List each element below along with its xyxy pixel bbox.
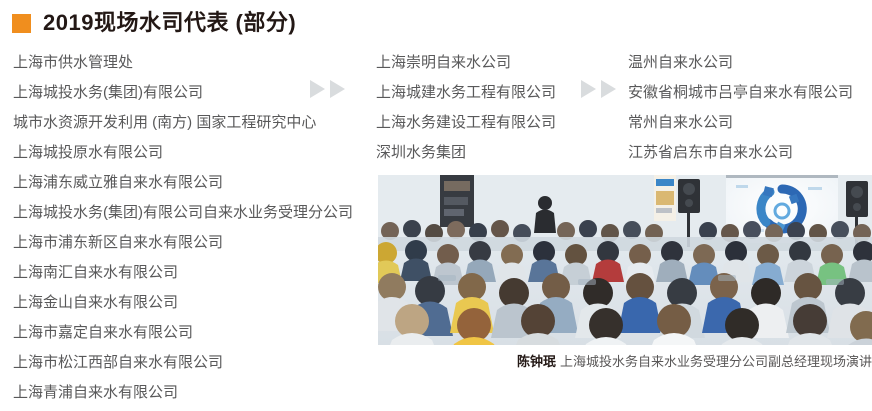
caption-speaker-name: 陈钟珉 [517,354,556,369]
list-item: 上海城建水务工程有限公司 [376,78,556,108]
list-item: 上海浦东威立雅自来水有限公司 [13,168,353,198]
triangle-right-icon [601,80,616,98]
list-item: 上海市浦东新区自来水有限公司 [13,228,353,258]
page-title: 2019现场水司代表 (部分) [43,12,296,34]
water-company-list-column-1: 上海市供水管理处 上海城投水务(集团)有限公司 城市水资源开发利用 (南方) 国… [13,48,353,408]
list-item: 温州自来水公司 [628,48,853,78]
photo-illustration [378,175,872,345]
column-separator-arrows-1 [310,80,345,98]
page-title-bar: 2019现场水司代表 (部分) [0,0,872,46]
list-item: 城市水资源开发利用 (南方) 国家工程研究中心 [13,108,353,138]
list-item: 上海市供水管理处 [13,48,353,78]
orange-square-bullet-icon [12,14,31,33]
list-item: 常州自来水公司 [628,108,853,138]
list-item: 上海城投原水有限公司 [13,138,353,168]
photo-caption: 陈钟珉上海城投水务自来水业务受理分公司副总经理现场演讲 [378,351,872,370]
list-item: 上海城投水务(集团)有限公司 [13,78,353,108]
list-item: 上海南汇自来水有限公司 [13,258,353,288]
list-item: 上海金山自来水有限公司 [13,288,353,318]
list-item: 上海崇明自来水公司 [376,48,556,78]
triangle-right-icon [310,80,325,98]
column-separator-arrows-2 [581,80,616,98]
list-item: 上海青浦自来水有限公司 [13,378,353,408]
triangle-right-icon [581,80,596,98]
list-item: 上海水务建设工程有限公司 [376,108,556,138]
triangle-right-icon [330,80,345,98]
caption-speaker-title: 上海城投水务自来水业务受理分公司副总经理现场演讲 [560,354,872,369]
water-company-list-column-3: 温州自来水公司 安徽省桐城市吕亭自来水有限公司 常州自来水公司 江苏省启东市自来… [628,48,853,168]
water-company-list-column-2: 上海崇明自来水公司 上海城建水务工程有限公司 上海水务建设工程有限公司 深圳水务… [376,48,556,168]
list-item: 安徽省桐城市吕亭自来水有限公司 [628,78,853,108]
conference-audience-photo [378,175,872,345]
list-item: 上海市松江西部自来水有限公司 [13,348,353,378]
list-item: 上海城投水务(集团)有限公司自来水业务受理分公司 [13,198,353,228]
list-item: 江苏省启东市自来水公司 [628,138,853,168]
list-item: 深圳水务集团 [376,138,556,168]
list-item: 上海市嘉定自来水有限公司 [13,318,353,348]
